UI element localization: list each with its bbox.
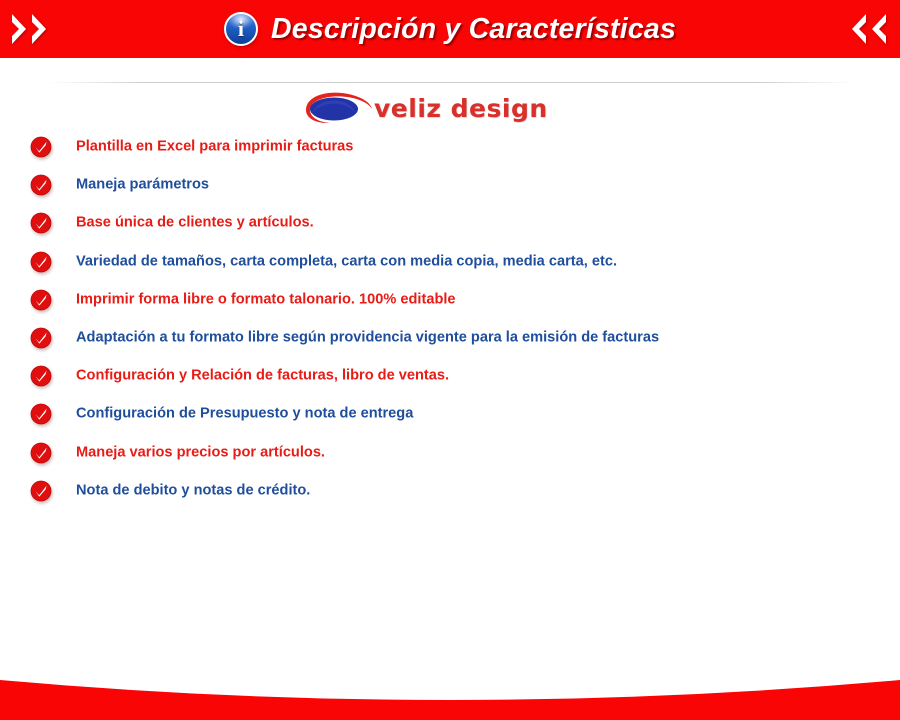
slide-header-bar: i Descripción y Características: [0, 0, 900, 58]
slide-canvas: i Descripción y Características veliz de…: [0, 0, 900, 720]
feature-list-item: Adaptación a tu formato libre según prov…: [0, 319, 900, 357]
info-icon: i: [224, 12, 258, 46]
feature-list-item-label: Imprimir forma libre o formato talonario…: [76, 291, 456, 308]
check-circle-icon: [30, 251, 52, 273]
check-circle-icon: [30, 365, 52, 387]
check-circle-icon: [30, 212, 52, 234]
feature-list-item: Base única de clientes y artículos.: [0, 204, 900, 242]
slide-title-block: i Descripción y Características: [0, 0, 900, 58]
feature-list-item-label: Configuración y Relación de facturas, li…: [76, 368, 449, 385]
feature-list-item: Configuración y Relación de facturas, li…: [0, 357, 900, 395]
check-circle-icon: [30, 442, 52, 464]
brand-logo-text: veliz design: [374, 96, 548, 121]
feature-list-item-label: Nota de debito y notas de crédito.: [76, 482, 310, 499]
feature-list-item: Configuración de Presupuesto y nota de e…: [0, 395, 900, 433]
feature-list-item-label: Configuración de Presupuesto y nota de e…: [76, 406, 413, 423]
check-circle-icon: [30, 174, 52, 196]
page-title: Descripción y Características: [271, 13, 676, 46]
nav-back-chevrons[interactable]: [849, 7, 888, 51]
feature-list-item-label: Adaptación a tu formato libre según prov…: [76, 330, 659, 347]
feature-list-item: Maneja parámetros: [0, 166, 900, 204]
feature-list-item: Nota de debito y notas de crédito.: [0, 472, 900, 510]
feature-list-item-label: Plantilla en Excel para imprimir factura…: [76, 139, 353, 156]
feature-list: Plantilla en Excel para imprimir factura…: [0, 128, 900, 510]
veliz-logo-mark-icon: [298, 89, 376, 127]
check-circle-icon: [30, 136, 52, 158]
feature-list-item: Plantilla en Excel para imprimir factura…: [0, 128, 900, 166]
feature-list-item: Maneja varios precios por artículos.: [0, 434, 900, 472]
info-icon-glyph: i: [226, 14, 256, 44]
content-divider: [48, 82, 854, 83]
check-circle-icon: [30, 289, 52, 311]
feature-list-item: Variedad de tamaños, carta completa, car…: [0, 243, 900, 281]
brand-logo: veliz design: [298, 88, 503, 128]
check-circle-icon: [30, 480, 52, 502]
feature-list-item-label: Variedad de tamaños, carta completa, car…: [76, 253, 617, 270]
feature-list-item-label: Maneja parámetros: [76, 177, 209, 194]
feature-list-item-label: Maneja varios precios por artículos.: [76, 444, 325, 461]
footer-curve-decoration: [0, 660, 900, 720]
chevron-left-icon[interactable]: [869, 12, 888, 46]
check-circle-icon: [30, 327, 52, 349]
check-circle-icon: [30, 403, 52, 425]
feature-list-item-label: Base única de clientes y artículos.: [76, 215, 314, 232]
slide-content-area: veliz design Plantilla en Excel para imp…: [0, 58, 900, 720]
feature-list-item: Imprimir forma libre o formato talonario…: [0, 281, 900, 319]
chevron-left-icon[interactable]: [849, 12, 868, 46]
